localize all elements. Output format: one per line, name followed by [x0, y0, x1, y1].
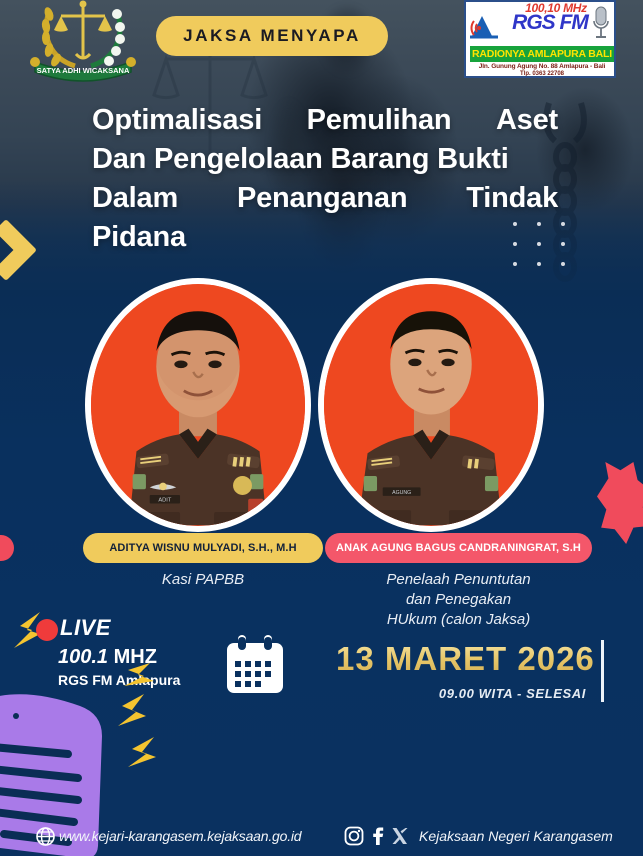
rgs-tagline-bar: RADIONYA AMLAPURA BALI — [470, 46, 614, 62]
event-time: 09.00 WITA - SELESAI — [336, 686, 586, 701]
calendar-icon — [224, 634, 286, 696]
speaker-name-left: ADITYA WISNU MULYADI, S.H., M.H — [109, 542, 296, 554]
live-red-dot-icon — [36, 619, 58, 641]
lightning-bolt-icon — [128, 735, 168, 777]
facebook-icon[interactable] — [371, 826, 385, 846]
rgs-phone-text: Tlp. 0363 22708 — [466, 71, 616, 77]
speaker-photo-left: ADIT — [85, 278, 311, 532]
poster-canvas: SATYA ADHI WICAKSANA JAKSA MENYAPA 100,1… — [0, 0, 643, 856]
date-divider-rule — [601, 640, 604, 702]
headline-line3-word2: Penanganan — [237, 179, 407, 218]
dot-grid-decoration — [513, 222, 567, 268]
uniform-nameplate-text: AGUNG — [392, 490, 411, 496]
speaker-role-right: Penelaah Penuntutan dan Penegakan HUkum … — [325, 570, 592, 630]
headline-line1-word3: Aset — [496, 101, 558, 140]
speaker-portrait-graphic: ADIT — [91, 284, 305, 526]
kejaksaan-emblem-icon: SATYA ADHI WICAKSANA — [24, 0, 142, 88]
headline-line1-word1: Optimalisasi — [92, 101, 262, 140]
x-twitter-icon[interactable] — [391, 826, 409, 846]
jaksa-menyapa-badge: JAKSA MENYAPA — [156, 16, 388, 56]
rgs-fm-logo: 100,10 MHz RGS FM RADIONYA AMLAPURA BALI… — [464, 0, 616, 78]
event-date: 13 MARET 2026 — [336, 640, 595, 678]
radio-tower-icon — [468, 6, 504, 42]
poster-headline: Optimalisasi Pemulihan Aset Dan Pengelol… — [92, 101, 558, 257]
speaker-role-left: Kasi PAPBB — [83, 570, 323, 590]
live-label: LIVE — [60, 615, 111, 641]
speaker-portrait-graphic: AGUNG — [324, 284, 538, 526]
rgs-callsign-text: RGS FM — [502, 12, 598, 33]
emblem-motto-text: SATYA ADHI WICAKSANA — [37, 66, 130, 75]
instagram-icon[interactable] — [344, 826, 364, 846]
speaker-name-right: ANAK AGUNG BAGUS CANDRANINGRAT, S.H — [336, 542, 581, 554]
footer-website-url[interactable]: www.kejari-karangasem.kejaksaan.go.id — [59, 828, 301, 844]
speaker-role-right-line2: dan Penegakan — [325, 590, 592, 610]
jaksa-menyapa-label: JAKSA MENYAPA — [183, 26, 361, 46]
uniform-nameplate-text: ADIT — [158, 498, 171, 504]
rgs-address-text: Jln. Gunung Agung No. 88 Amlapura - Bali — [466, 63, 616, 70]
globe-icon — [36, 827, 55, 846]
speaker-name-badge-left: ADITYA WISNU MULYADI, S.H., M.H — [83, 533, 323, 563]
live-frequency-number: 100.1 — [58, 646, 108, 668]
speaker-role-right-line3: HUkum (calon Jaksa) — [325, 610, 592, 630]
speaker-name-badge-right: ANAK AGUNG BAGUS CANDRANINGRAT, S.H — [325, 533, 592, 563]
headline-line2: Dan Pengelolaan Barang Bukti — [92, 140, 558, 179]
headline-line1-word2: Pemulihan — [307, 101, 452, 140]
footer-organization-name: Kejaksaan Negeri Karangasem — [419, 828, 613, 844]
headline-line3-word3: Tindak — [466, 179, 558, 218]
rgs-logo-top: 100,10 MHz RGS FM — [466, 2, 614, 44]
headline-line4: Pidana — [92, 218, 558, 257]
microphone-icon — [591, 5, 611, 43]
speaker-role-right-line1: Penelaah Penuntutan — [325, 570, 592, 590]
headline-line3-word1: Dalam — [92, 179, 178, 218]
speaker-photo-right: AGUNG — [318, 278, 544, 532]
